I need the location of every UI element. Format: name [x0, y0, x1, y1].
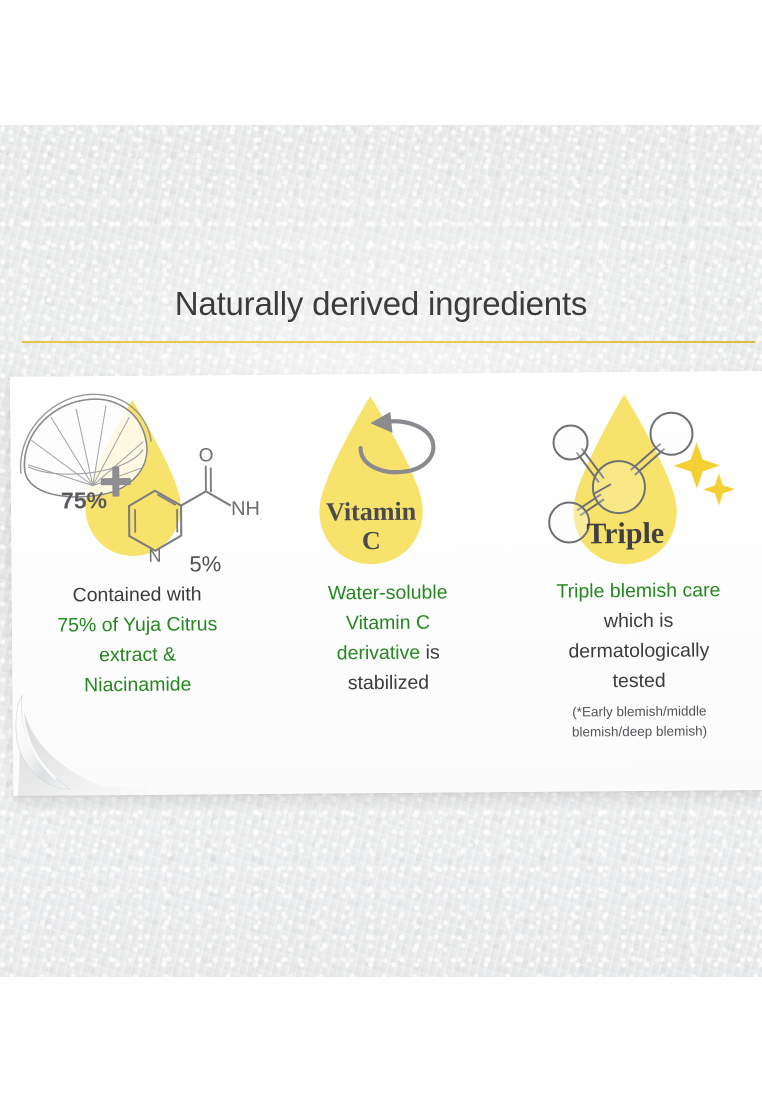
molecule-nitrogen-label: N [149, 546, 162, 566]
yuja-niacinamide-illustration: 75% [10, 389, 261, 577]
vitamin-c-illustration: Vitamin C [286, 387, 487, 575]
molecule-node [549, 502, 589, 542]
footnote-line: blemish/deep blemish) [540, 721, 739, 743]
page-title-wrap: Naturally derived ingredients [0, 283, 762, 325]
vitamin-c-droplet-line2: C [362, 526, 381, 555]
caption-line: derivative is [277, 637, 500, 669]
triple-care-caption: Triple blemish care which is dermatologi… [513, 575, 762, 697]
ingredients-card: 75% [10, 371, 762, 796]
triple-care-illustration: Triple [532, 385, 743, 573]
molecule-oxygen-label: O [199, 445, 214, 466]
caption-line: Triple blemish care [527, 575, 750, 607]
caption-line: tested [528, 665, 751, 697]
caption-line: which is [527, 605, 750, 637]
caption-line: Water-soluble [276, 577, 499, 609]
sparkle-small-icon [702, 473, 734, 505]
molecule-node [553, 425, 587, 459]
triple-care-artwork: Triple [511, 385, 762, 577]
triple-droplet-label: Triple [586, 517, 664, 551]
molecule-amine-label: NH2 [231, 498, 262, 523]
ingredients-card-surface: 75% [10, 371, 762, 796]
caption-line: Contained with [26, 579, 249, 611]
vitamin-c-artwork: Vitamin C [261, 387, 513, 579]
vitamin-c-caption: Water-soluble Vitamin C derivative is st… [262, 577, 514, 699]
yuja-niacinamide-caption: Contained with 75% of Yuja Citrus extrac… [12, 579, 264, 701]
yuja-niacinamide-artwork: 75% [10, 389, 262, 581]
caption-line: dermatologically [527, 635, 750, 667]
molecule-core-node [592, 461, 644, 513]
triple-care-footnote: (*Early blemish/middle blemish/deep blem… [514, 701, 762, 743]
caption-line: stabilized [277, 667, 500, 699]
caption-line: 75% of Yuja Citrus [26, 609, 249, 641]
ingredient-columns: 75% [10, 371, 762, 796]
caption-highlight: derivative [337, 642, 421, 665]
title-divider-rule [22, 341, 755, 343]
ingredient-column-vitamin-c: Vitamin C Water-soluble Vitamin C deriva… [261, 373, 515, 794]
caption-line: Vitamin C [277, 607, 500, 639]
ingredient-column-triple-care: Triple Triple blemish care which is derm… [511, 371, 762, 792]
vitamin-c-droplet-line1: Vitamin [326, 497, 417, 527]
niacinamide-percent-label: 5% [190, 551, 222, 576]
ingredient-column-yuja-niacinamide: 75% [10, 375, 264, 796]
caption-line: extract & [26, 639, 249, 671]
caption-suffix: is [420, 642, 440, 664]
footnote-line: (*Early blemish/middle [540, 701, 739, 723]
molecule-node [650, 413, 692, 455]
product-detail-image: Naturally derived ingredients [0, 0, 762, 1100]
page-title: Naturally derived ingredients [0, 283, 762, 325]
citrus-percent-label: 75% [61, 487, 107, 513]
caption-line: Niacinamide [26, 669, 249, 701]
